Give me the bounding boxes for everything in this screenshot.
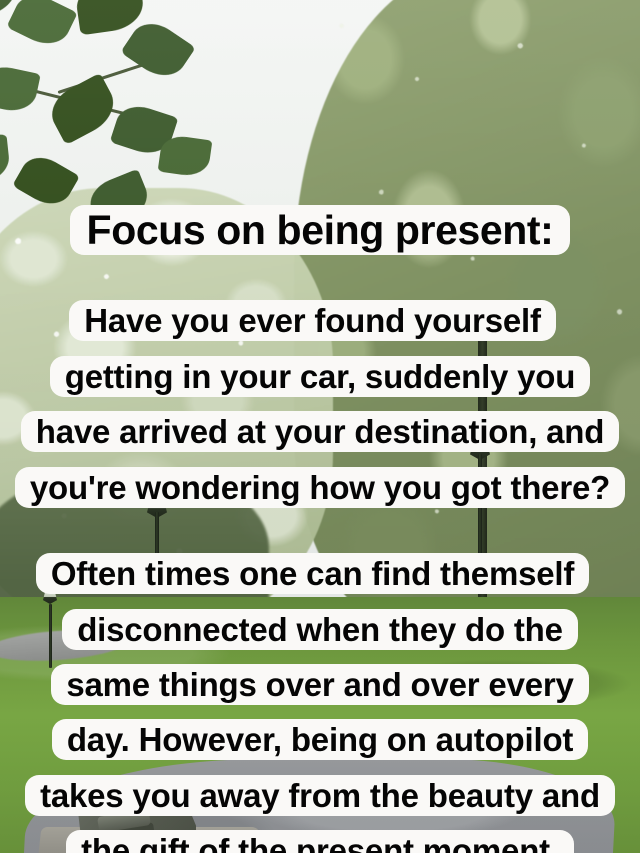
question-line: there? — [510, 469, 610, 506]
question-block: Have you ever found yourself getting in … — [0, 293, 640, 515]
body-line: same things over and over every — [66, 666, 573, 703]
question-line: have arrived at your destination, and — [36, 413, 604, 450]
question-line: getting in your car, suddenly you — [65, 358, 575, 395]
title-text: Focus on being present: — [70, 205, 571, 255]
body-line: day. However, being on autopilot — [67, 721, 573, 758]
title-block: Focus on being present: — [0, 197, 640, 263]
body-line: the gift of the present moment. — [81, 832, 559, 853]
body-line: takes you away from the beauty and — [40, 777, 600, 814]
body-block: Often times one can find themself discon… — [0, 546, 640, 853]
question-line: you're wondering how you got — [30, 469, 502, 506]
quote-card-screenshot: Focus on being present: Have you ever fo… — [0, 0, 640, 853]
body-line: disconnected when they do the — [77, 611, 563, 648]
question-text: Have you ever found yourself getting in … — [15, 300, 625, 507]
text-overlay: Focus on being present: Have you ever fo… — [0, 0, 640, 853]
question-line: Have you ever found yourself — [84, 302, 541, 339]
body-line: Often times one can find themself — [51, 555, 574, 592]
body-text: Often times one can find themself discon… — [25, 553, 615, 853]
